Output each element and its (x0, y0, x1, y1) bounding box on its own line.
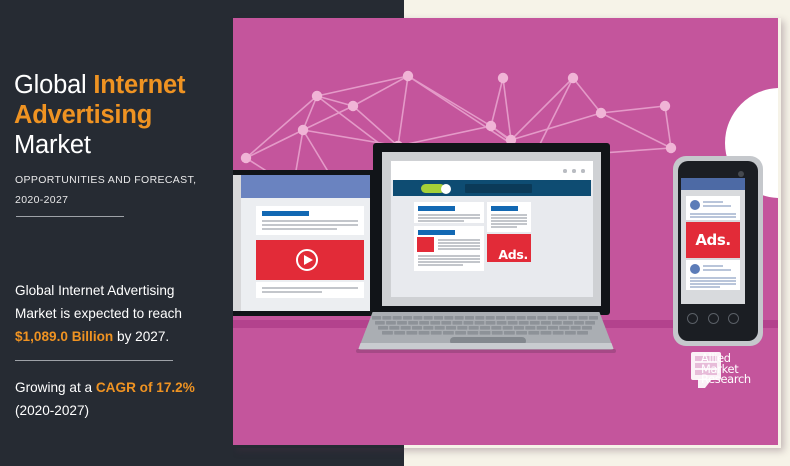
network-node (498, 73, 508, 83)
text-line (418, 214, 480, 216)
home-icon[interactable] (708, 313, 719, 324)
window-controls-icon[interactable] (563, 169, 567, 173)
network-node (241, 153, 251, 163)
keyboard-key (401, 326, 411, 330)
address-bar[interactable] (465, 184, 532, 193)
keyboard-key (559, 326, 569, 330)
keyboard-key (444, 316, 453, 320)
text-line (262, 228, 337, 230)
phone-ad-banner[interactable]: Ads. (686, 222, 740, 258)
keyboard-key (475, 321, 485, 325)
phone-nav-bar (681, 308, 745, 330)
network-edge (601, 106, 665, 113)
keyboard-key (514, 326, 524, 330)
text-line (418, 261, 480, 263)
keyboard-key (475, 316, 484, 320)
keyboard-key (579, 316, 588, 320)
keyboard-key (527, 316, 536, 320)
keyboard-key (457, 326, 467, 330)
keyboard-key (553, 331, 564, 335)
title-advertising: Advertising (14, 100, 229, 130)
stat-line-3: $1,089.0 Billion by 2027. (15, 325, 235, 348)
cagr-value: CAGR of 17.2% (96, 380, 195, 395)
content-card-top-left (414, 202, 484, 223)
allied-market-research-logo[interactable]: Allied Market Research (691, 352, 775, 398)
keyboard-key (548, 316, 557, 320)
keyboard-key (506, 316, 515, 320)
keyboard-key (455, 331, 466, 335)
text-line (438, 242, 480, 244)
network-edge (246, 130, 303, 158)
window-controls-icon[interactable] (581, 169, 585, 173)
laptop: Ads. (338, 143, 631, 375)
keyboard-key (537, 326, 547, 330)
laptop-base (338, 312, 631, 358)
text-line (703, 265, 723, 267)
play-icon[interactable] (296, 249, 318, 271)
keyboard-key (375, 321, 385, 325)
keyboard-key (464, 321, 474, 325)
phone-camera-icon (738, 171, 744, 177)
subtitle-block: OPPORTUNITIES AND FORECAST, 2020-2027 (15, 170, 225, 210)
keyboard-key (589, 316, 598, 320)
avatar (690, 200, 700, 210)
smartphone: Ads. (673, 156, 763, 346)
network-node (298, 125, 308, 135)
keyboard-key (528, 331, 539, 335)
keyboard-key (571, 326, 581, 330)
inline-image-placeholder (417, 237, 434, 252)
keyboard-key (565, 331, 576, 335)
text-line (690, 277, 736, 279)
keyboard-key (585, 321, 595, 325)
text-line (438, 248, 480, 250)
keyboard-key (552, 321, 562, 325)
text-line (690, 280, 736, 282)
market-value: $1,089.0 Billion (15, 329, 113, 344)
keyboard-key (486, 316, 495, 320)
infographic-canvas: Global Internet Advertising Market OPPOR… (0, 0, 790, 466)
keyboard-key (431, 331, 442, 335)
text-line (703, 269, 731, 271)
avatar (690, 264, 700, 274)
text-line (438, 245, 480, 247)
keyboard-key (443, 331, 454, 335)
phone-app-header (681, 178, 745, 190)
cagr-prefix: Growing at a (15, 380, 96, 395)
divider-bottom (15, 360, 173, 361)
keyboard-key (452, 321, 462, 325)
title-global: Global (14, 71, 93, 99)
stat-line-1: Global Internet Advertising (15, 279, 235, 302)
phone-screen: Ads. (681, 178, 745, 304)
browser-toolbar[interactable] (393, 180, 591, 196)
laptop-ad-banner[interactable]: Ads. (487, 234, 531, 262)
title-market: Market (14, 130, 229, 160)
title-line-1: Global Internet (14, 70, 229, 100)
keyboard-key (469, 326, 479, 330)
logo-line-3: Research (701, 374, 777, 385)
keyboard-key (419, 321, 429, 325)
network-edge (398, 76, 408, 146)
title-internet: Internet (93, 71, 185, 99)
keyboard-key (406, 331, 417, 335)
network-edge (665, 106, 671, 148)
keyboard-key (517, 316, 526, 320)
network-node (403, 71, 413, 81)
network-edge (503, 78, 511, 140)
network-edge (491, 78, 503, 126)
network-node (348, 101, 358, 111)
text-line (262, 291, 322, 293)
logo-wordmark: Allied Market Research (701, 353, 777, 385)
phone-post-card (686, 260, 740, 290)
toolbar-white-circle-icon[interactable] (441, 184, 451, 194)
keyboard-key (508, 321, 518, 325)
keyboard-key (424, 316, 433, 320)
text-line (418, 264, 463, 266)
keyboard-key (577, 331, 588, 335)
text-line (703, 201, 723, 203)
text-line (690, 216, 736, 218)
keyboard-key (397, 321, 407, 325)
market-value-suffix: by 2027. (113, 329, 169, 344)
keyboard-key (465, 316, 474, 320)
text-line (438, 239, 480, 241)
laptop-keys (368, 315, 602, 337)
card-heading (418, 230, 455, 235)
text-line (418, 220, 464, 222)
keyboard-key (403, 316, 412, 320)
keyboard-key (558, 316, 567, 320)
text-line (491, 226, 517, 228)
browser-titlebar (391, 161, 593, 180)
network-edge (317, 76, 408, 96)
keyboard-key (386, 321, 396, 325)
keyboard-key (503, 326, 513, 330)
keyboard-key (455, 316, 464, 320)
keyboard-key (393, 316, 402, 320)
keyboard-key (434, 316, 443, 320)
keyboard-key (574, 321, 584, 325)
keyboard-key (504, 331, 515, 335)
network-node (660, 101, 670, 111)
browser-page: Ads. (391, 161, 593, 297)
text-line (491, 223, 527, 225)
phone-post-card (686, 196, 740, 220)
keyboard-key (372, 316, 381, 320)
text-line (703, 205, 731, 207)
keyboard-key (582, 326, 592, 330)
keyboard-key (492, 331, 503, 335)
left-dark-panel-column: Global Internet Advertising Market OPPOR… (0, 18, 233, 466)
text-line (418, 217, 480, 219)
keyboard-key (394, 331, 405, 335)
text-line (491, 220, 527, 222)
laptop-shadow (356, 349, 616, 353)
keyboard-key (537, 316, 546, 320)
keyboard-key (491, 326, 501, 330)
text-line (418, 258, 480, 260)
keyboard-key (541, 331, 552, 335)
divider-top (16, 216, 124, 217)
keyboard-key (408, 321, 418, 325)
keyboard-key (568, 316, 577, 320)
network-edge (573, 78, 601, 113)
stat-line-2: Market is expected to reach (15, 302, 235, 325)
keyboard-key (525, 326, 535, 330)
content-card-bottom-left (414, 226, 484, 271)
keyboard-key (548, 326, 558, 330)
network-node (666, 143, 676, 153)
keyboard-key (516, 331, 527, 335)
keyboard-key (467, 331, 478, 335)
text-line (690, 286, 720, 288)
back-arrow-icon[interactable] (687, 313, 698, 324)
keyboard-key (382, 331, 393, 335)
subtitle-line-2: 2020-2027 (15, 190, 225, 210)
keyboard-key (412, 326, 422, 330)
keyboard-key (530, 321, 540, 325)
network-node (596, 108, 606, 118)
keyboard-key (497, 321, 507, 325)
keyboard-key (419, 331, 430, 335)
keyboard-key (480, 331, 491, 335)
cagr-paragraph: Growing at a CAGR of 17.2% (2020-2027) (15, 376, 240, 422)
keyboard-key (541, 321, 551, 325)
ads-label: Ads. (686, 231, 740, 249)
stat-paragraph: Global Internet Advertising Market is ex… (15, 279, 235, 348)
content-card-right (487, 202, 531, 232)
keyboard-key (435, 326, 445, 330)
subtitle-line-1: OPPORTUNITIES AND FORECAST, (15, 170, 225, 190)
keyboard-key (480, 326, 490, 330)
monitor-article-heading (262, 211, 309, 216)
network-node (312, 91, 322, 101)
network-node (486, 121, 496, 131)
keyboard-key (563, 321, 573, 325)
keyboard-key (519, 321, 529, 325)
keyboard-key (423, 326, 433, 330)
keyboard-key (441, 321, 451, 325)
recents-icon[interactable] (728, 313, 739, 324)
ads-label: Ads. (498, 247, 528, 262)
card-heading (491, 206, 518, 211)
text-line (491, 214, 527, 216)
card-heading (418, 206, 455, 211)
text-line (690, 283, 736, 285)
keyboard-key (430, 321, 440, 325)
keyboard-key (389, 326, 399, 330)
text-line (690, 213, 736, 215)
text-line (418, 255, 480, 257)
keyboard-key (446, 326, 456, 330)
cagr-line-1: Growing at a CAGR of 17.2% (15, 376, 240, 399)
keyboard-key (486, 321, 496, 325)
cagr-line-2: (2020-2027) (15, 399, 240, 422)
keyboard-key (413, 316, 422, 320)
keyboard-key (382, 316, 391, 320)
network-edge (353, 76, 408, 106)
window-controls-icon[interactable] (572, 169, 576, 173)
network-node (568, 73, 578, 83)
page-title: Global Internet Advertising Market (14, 70, 229, 160)
keyboard-key (496, 316, 505, 320)
keyboard-key (378, 326, 388, 330)
text-line (491, 217, 527, 219)
